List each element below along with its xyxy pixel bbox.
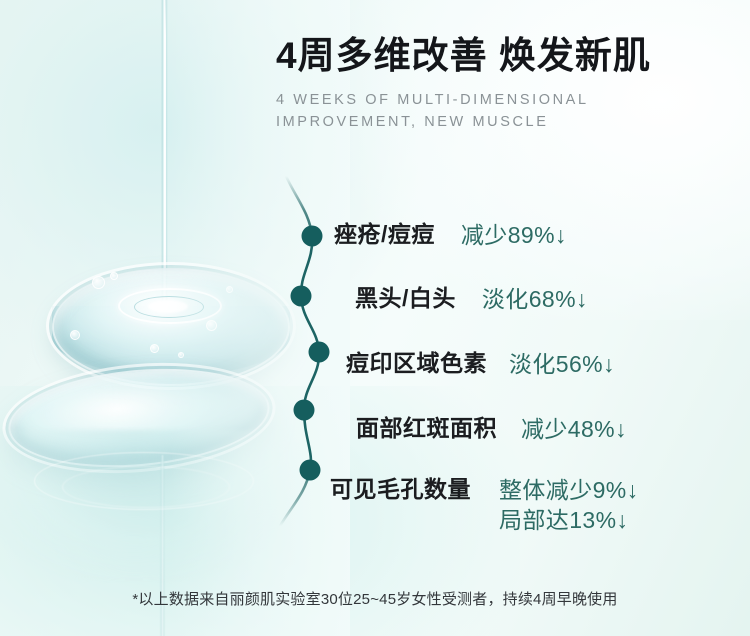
result-value: 减少48%↓ (521, 416, 627, 442)
bubble (206, 320, 217, 331)
surface-ripple-ring-outer (34, 452, 254, 510)
upper-petri-dish (52, 268, 290, 386)
promo-poster: 4周多维改善 焕发新肌 4 WEEKS OF MULTI-DIMENSIONAL… (0, 0, 750, 636)
result-row-facial-redness-area: 面部红斑面积 减少48%↓ (356, 414, 627, 444)
bubble (226, 286, 233, 293)
result-values: 整体减少9%↓ 局部达13%↓ (499, 475, 639, 536)
node-dot-3 (309, 342, 330, 363)
splash-core (148, 300, 188, 313)
result-value: 淡化68%↓ (482, 286, 588, 312)
result-values: 减少89%↓ (461, 220, 567, 250)
heading-block: 4周多维改善 焕发新肌 4 WEEKS OF MULTI-DIMENSIONAL… (276, 34, 736, 134)
node-dot-4 (294, 400, 315, 421)
result-values: 减少48%↓ (521, 414, 627, 444)
bubble (150, 344, 159, 353)
result-row-acne-mark-pigment: 痘印区域色素 淡化56%↓ (346, 349, 615, 379)
result-label: 面部红斑面积 (356, 414, 497, 443)
bubble (92, 276, 105, 289)
bubble (178, 352, 184, 358)
surface-ripple-ring-inner (62, 466, 230, 508)
page-title: 4周多维改善 焕发新肌 (276, 34, 736, 78)
splash-ripple-outer (118, 288, 222, 324)
result-row-blackhead-whitehead: 黑头/白头 淡化68%↓ (355, 284, 588, 314)
result-label: 可见毛孔数量 (330, 475, 471, 504)
bubble (110, 272, 118, 280)
result-row-visible-pore-count: 可见毛孔数量 整体减少9%↓ 局部达13%↓ (330, 475, 639, 536)
liquid-stream-highlight (164, 0, 166, 300)
lower-petri-dish (4, 359, 273, 477)
result-values: 淡化56%↓ (509, 349, 615, 379)
result-value: 淡化56%↓ (509, 351, 615, 377)
result-value-overall: 整体减少9%↓ (499, 475, 639, 505)
upper-petri-dish-rim (46, 262, 296, 390)
result-value-local: 局部达13%↓ (499, 505, 639, 535)
result-label: 黑头/白头 (355, 284, 456, 313)
result-value: 减少89%↓ (461, 222, 567, 248)
splash-ripple-inner (134, 296, 204, 318)
node-dot-2 (291, 286, 312, 307)
result-label: 痘印区域色素 (346, 349, 487, 378)
bubble (70, 330, 80, 340)
surface-reflection (0, 430, 290, 580)
product-photo-petri-dish (0, 0, 300, 636)
result-values: 淡化68%↓ (482, 284, 588, 314)
lower-petri-dish-rim (0, 352, 280, 483)
liquid-stream (161, 0, 168, 304)
result-label: 痤疮/痘痘 (334, 220, 435, 249)
footnote-disclaimer: *以上数据来自丽颜肌实验室30位25~45岁女性受测者，持续4周早晚使用 (0, 588, 750, 609)
result-row-acne: 痤疮/痘痘 减少89%↓ (334, 220, 567, 250)
page-subtitle: 4 WEEKS OF MULTI-DIMENSIONAL IMPROVEMENT… (276, 89, 736, 134)
upper-dish-wall (52, 306, 290, 376)
node-dot-5 (300, 460, 321, 481)
node-dot-1 (302, 226, 323, 247)
